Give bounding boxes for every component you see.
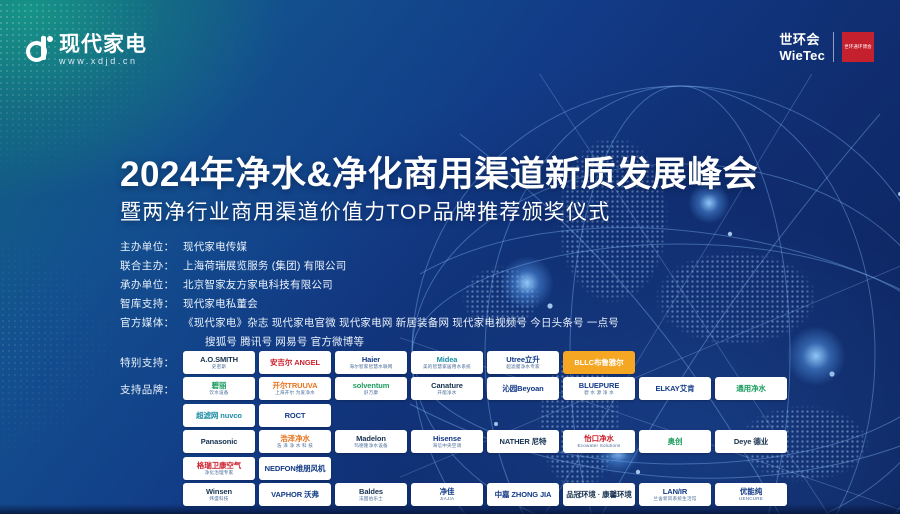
info-row: 承办单位： 北京智家友方家电科技有限公司 [120,278,760,293]
brand-name-primary: Hisense [433,435,461,443]
brand-name-primary: A.O.SMITH [200,356,238,364]
brand-logo-tile: 格瑞卫康空气净化治理专家 [183,457,255,480]
brand-logo-tile: BLUEPURE碧 水 源 净 水 [563,377,635,400]
info-value: 现代家电传媒 [183,240,760,255]
supporting-brands-tiles: Panasonic浩泽净水浩 泽 净 水 科 技Madelon玛德隆净水设备Hi… [183,430,810,480]
info-row: 联合主办： 上海荷瑞展览服务 (集团) 有限公司 [120,259,760,274]
brand-name-secondary: 法国伯乐士 [359,497,383,502]
brand-logo-tile: Haier海尔智家智慧水联网 [335,351,407,374]
sponsor-logo-section: 特别支持： A.O.SMITH史密斯安吉尔 ANGELHaier海尔智家智慧水联… [120,351,810,509]
brand-logo-tile: Deye 德业 [715,430,787,453]
brand-name-secondary: 海尔智家智慧水联网 [349,365,392,370]
brand-logo-tile: VAPHOR 沃弗 [259,483,331,506]
brand-name-secondary: 炜盛科技 [209,497,228,502]
brand-logo-tile: NEDFON维朋风机 [259,457,331,480]
brand-logo-tile: 怡口净水Ecowater Solutions [563,430,635,453]
brand-name-primary: 通用净水 [736,385,766,393]
brand-name-secondary: 上海开尔 为爱净水 [275,391,315,396]
brand-logo-tile: 开尔TRUUVA上海开尔 为爱净水 [259,377,331,400]
brand-logo-tile: ROCT [259,404,331,427]
brand-logo-tile: solventum舒万康 [335,377,407,400]
brand-name-secondary: 饮水设备 [209,391,228,396]
brand-name-primary: BLLC布鲁雅尔 [574,359,623,367]
supporting-brands-tiles: 碧丽饮水设备开尔TRUUVA上海开尔 为爱净水solventum舒万康Canat… [183,377,810,427]
brand-logo-tile: 浩泽净水浩 泽 净 水 科 技 [259,430,331,453]
brand-logo-tile: A.O.SMITH史密斯 [183,351,255,374]
brand-name-primary: VAPHOR 沃弗 [271,491,319,499]
info-label: 官方媒体： [120,316,183,331]
brand-name-secondary: 碧 水 源 净 水 [584,391,614,396]
info-label: 智库支持： [120,297,183,312]
brand-name-primary: 浩泽净水 [280,435,310,443]
brand-name-primary: Midea [437,356,458,364]
brand-name-primary: ROCT [285,412,306,420]
brand-name-secondary: 舒万康 [364,391,378,396]
info-label: 联合主办： [120,259,183,274]
brand-name-secondary: 美的智慧家居用水系统 [423,365,471,370]
brand-name-primary: 开尔TRUUVA [273,382,318,390]
brand-name-primary: ELKAY艾肯 [655,385,694,393]
special-support-label: 特别支持： [120,355,183,370]
publisher-name: 现代家电 [59,34,147,55]
brand-logo-tile: LAN/IR兰舍新风系统生活馆 [639,483,711,506]
brand-logo-tile: ELKAY艾肯 [639,377,711,400]
brand-logo-tile: 安吉尔 ANGEL [259,351,331,374]
special-support-tiles: A.O.SMITH史密斯安吉尔 ANGELHaier海尔智家智慧水联网Midea… [183,351,635,374]
brand-name-primary: NATHER 尼特 [500,438,547,446]
brand-logo-tile: Hisense海信中央空调 [411,430,483,453]
brand-name-primary: 沁园Beyoan [502,385,543,393]
publisher-logo: 现代家电 www.xdjd.cn [26,34,147,66]
brand-name-primary: BLUEPURE [579,382,619,390]
special-support-row: 特别支持： A.O.SMITH史密斯安吉尔 ANGELHaier海尔智家智慧水联… [120,351,810,374]
brand-logo-tile: NATHER 尼特 [487,430,559,453]
wietec-badge-text: 世环通环博会 [844,44,872,50]
event-poster: 现代家电 www.xdjd.cn 世环会 WieTec 世环通环博会 2024年… [0,0,900,514]
brand-name-primary: 奥创 [668,438,683,446]
brand-logo-tile: 奥创 [639,430,711,453]
supporting-brands-label: 支持品牌： [120,377,183,397]
brand-name-secondary: 史密斯 [212,365,226,370]
brand-name-primary: Panasonic [201,438,238,446]
supporting-brands-tiles: Winsen炜盛科技VAPHOR 沃弗Baldes法国伯乐士净佳JIAJIA中嘉… [183,483,810,506]
brand-logo-tile: 优能纯UENCURE [715,483,787,506]
brand-name-secondary: 开能净水 [437,391,456,396]
brand-name-primary: 怡口净水 [584,435,614,443]
info-media-continuation: 搜狐号 腾讯号 网易号 官方微博等 [183,335,760,350]
brand-name-primary: solventum [353,382,390,390]
brand-name-primary: Deye 德业 [734,438,768,446]
wietec-divider [833,32,834,62]
brand-name-primary: 中嘉 ZHONG JIA [495,491,552,499]
wietec-red-badge: 世环通环博会 [842,32,874,62]
brand-name-secondary: 兰舍新风系统生活馆 [653,497,696,502]
brand-name-secondary: UENCURE [739,497,763,502]
brand-name-primary: 超滤网 nuvco [196,412,242,420]
event-title-main: 2024年净水&净化商用渠道新质发展峰会 [120,146,758,197]
brand-logo-tile: 通用净水 [715,377,787,400]
brand-logo-tile: 超滤网 nuvco [183,404,255,427]
info-value: 《现代家电》杂志 现代家电官微 现代家电网 新居装备网 现代家电视频号 今日头条… [183,316,760,331]
brand-name-primary: 品冠环境 · 康馨环境 [566,491,632,499]
brand-name-primary: 优能纯 [740,488,762,496]
brand-logo-tile: Baldes法国伯乐士 [335,483,407,506]
brand-logo-tile: Madelon玛德隆净水设备 [335,430,407,453]
brand-logo-tile: Utree立升超滤膜净水专家 [487,351,559,374]
brand-name-primary: Baldes [359,488,383,496]
brand-logo-tile: Canature开能净水 [411,377,483,400]
brand-name-primary: 净佳 [440,488,455,496]
brand-logo-tile: 沁园Beyoan [487,377,559,400]
info-value: 北京智家友方家电科技有限公司 [183,278,760,293]
wietec-name-cn: 世环会 [779,33,820,46]
brand-name-secondary: 超滤膜净水专家 [506,365,540,370]
wietec-logo: 世环会 WieTec 世环通环博会 [779,32,874,62]
brand-logo-tile: Panasonic [183,430,255,453]
info-value: 现代家电私董会 [183,297,760,312]
info-label: 主办单位： [120,240,183,255]
brand-name-primary: Utree立升 [506,356,539,364]
brand-logo-tile: Winsen炜盛科技 [183,483,255,506]
brand-name-secondary: 浩 泽 净 水 科 技 [277,444,313,449]
brand-logo-tile: 品冠环境 · 康馨环境 [563,483,635,506]
brand-name-secondary: 净化治理专家 [205,471,234,476]
info-row: 智库支持： 现代家电私董会 [120,297,760,312]
brand-logo-tile: BLLC布鲁雅尔 [563,351,635,374]
info-row: 主办单位： 现代家电传媒 [120,240,760,255]
brand-name-primary: LAN/IR [663,488,687,496]
event-title-sub: 暨两净行业商用渠道价值力TOP品牌推荐颁奖仪式 [120,196,610,226]
brand-name-primary: Haier [362,356,380,364]
organizer-info-block: 主办单位： 现代家电传媒 联合主办： 上海荷瑞展览服务 (集团) 有限公司 承办… [120,240,760,350]
info-value: 上海荷瑞展览服务 (集团) 有限公司 [183,259,760,274]
supporting-brands-row: 支持品牌： 碧丽饮水设备开尔TRUUVA上海开尔 为爱净水solventum舒万… [120,377,810,506]
brand-name-primary: Madelon [356,435,386,443]
brand-logo-tile: 净佳JIAJIA [411,483,483,506]
publisher-url: www.xdjd.cn [59,57,147,66]
brand-name-secondary: 海信中央空调 [433,444,462,449]
brand-name-secondary: Ecowater Solutions [578,444,621,449]
info-row-media: 官方媒体： 《现代家电》杂志 现代家电官微 现代家电网 新居装备网 现代家电视频… [120,316,760,331]
brand-name-primary: Winsen [206,488,232,496]
brand-logo-tile: 中嘉 ZHONG JIA [487,483,559,506]
brand-name-primary: Canature [431,382,463,390]
brand-name-secondary: 玛德隆净水设备 [354,444,388,449]
info-label: 承办单位： [120,278,183,293]
brand-name-primary: NEDFON维朋风机 [265,465,326,473]
xdjd-disc-mark-icon [26,36,52,64]
wietec-name-en: WieTec [779,49,825,62]
brand-name-primary: 格瑞卫康空气 [197,462,241,470]
brand-name-primary: 安吉尔 ANGEL [270,359,320,367]
brand-logo-tile: Midea美的智慧家居用水系统 [411,351,483,374]
brand-logo-tile: 碧丽饮水设备 [183,377,255,400]
brand-name-secondary: JIAJIA [440,497,454,502]
brand-name-primary: 碧丽 [212,382,227,390]
